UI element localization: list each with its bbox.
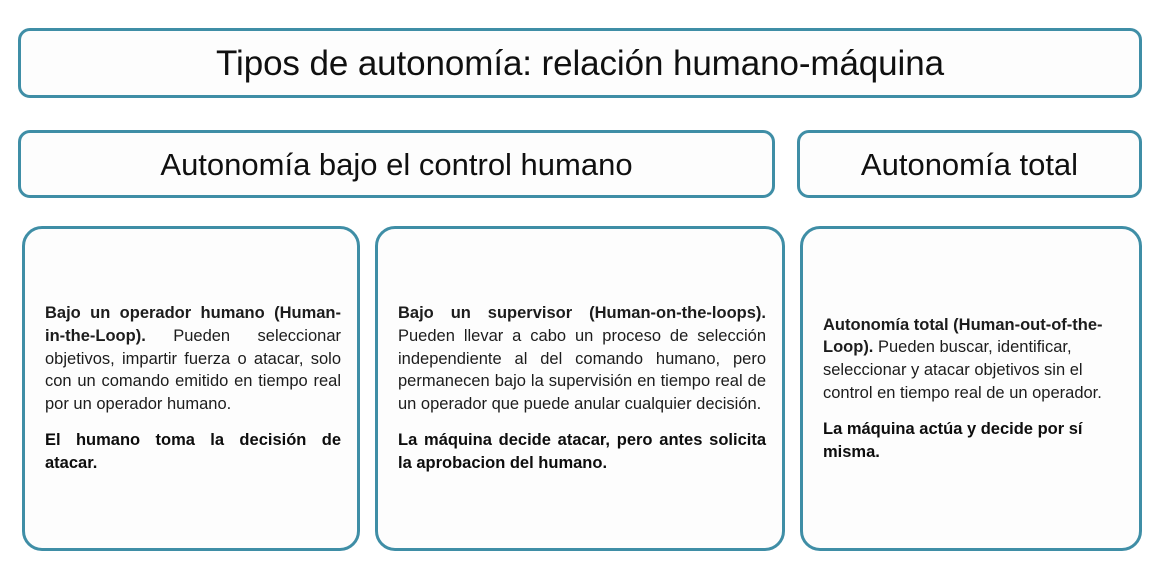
card-human-on-the-loop: Bajo un supervisor (Human-on-the-loops).… bbox=[375, 226, 785, 551]
diagram-canvas: Tipos de autonomía: relación humano-máqu… bbox=[0, 0, 1173, 578]
column-header-label: Autonomía total bbox=[861, 149, 1078, 180]
column-header-full-autonomy: Autonomía total bbox=[797, 130, 1142, 198]
column-header-label: Autonomía bajo el control humano bbox=[160, 149, 632, 180]
card-description: Autonomía total (Human-out-of-the-Loop).… bbox=[823, 314, 1123, 404]
card-conclusion: El humano toma la decisión de atacar. bbox=[45, 429, 341, 474]
card-human-in-the-loop: Bajo un operador humano (Human-in-the-Lo… bbox=[22, 226, 360, 551]
diagram-title-box: Tipos de autonomía: relación humano-máqu… bbox=[18, 28, 1142, 98]
card-conclusion: La máquina actúa y decide por sí misma. bbox=[823, 418, 1123, 463]
page-title: Tipos de autonomía: relación humano-máqu… bbox=[216, 46, 944, 81]
card-description: Bajo un supervisor (Human-on-the-loops).… bbox=[398, 302, 766, 415]
card-lead-rest: Pueden llevar a cabo un proceso de selec… bbox=[398, 327, 766, 413]
column-header-human-control: Autonomía bajo el control humano bbox=[18, 130, 775, 198]
card-description: Bajo un operador humano (Human-in-the-Lo… bbox=[45, 302, 341, 415]
card-conclusion: La máquina decide atacar, pero antes sol… bbox=[398, 429, 766, 474]
card-human-out-of-the-loop: Autonomía total (Human-out-of-the-Loop).… bbox=[800, 226, 1142, 551]
card-lead-bold: Bajo un supervisor (Human-on-the-loops). bbox=[398, 304, 766, 322]
